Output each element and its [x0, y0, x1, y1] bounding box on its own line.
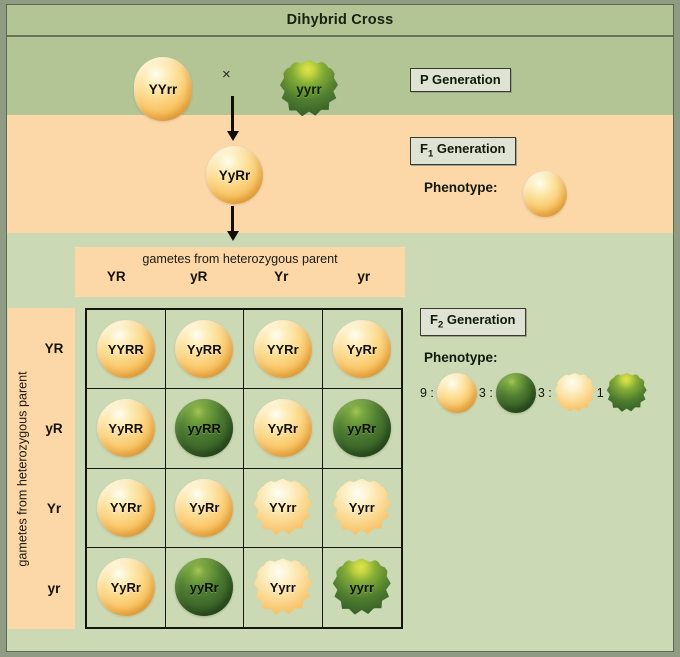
f1-offspring-genotype: YyRr	[206, 146, 263, 204]
punnett-cell-genotype: yyRR	[175, 399, 233, 457]
ratio-count: 9 :	[420, 386, 434, 400]
ratio-pea-wrap	[607, 373, 647, 413]
gamete-top-0: YR	[75, 269, 158, 284]
punnett-cell-genotype: YYRr	[254, 320, 312, 378]
pea-sprite-wrap: yyRr	[333, 399, 391, 457]
f1-generation-label: F1 Generation	[410, 137, 516, 165]
pea-sprite-wrap: YyRR	[175, 320, 233, 378]
punnett-cell: YyRR	[166, 310, 245, 389]
arrow-f1-to-f2	[231, 206, 234, 232]
pea-sprite-wrap: YyRr	[254, 399, 312, 457]
gamete-top-3: yr	[323, 269, 406, 284]
f1-generation-label-text: F1 Generation	[420, 141, 506, 156]
f1-offspring-pea: YyRr	[206, 146, 263, 204]
pea-sprite-wrap: YYRR	[97, 320, 155, 378]
pea-sprite-wrap: Yyrr	[333, 479, 391, 537]
gamete-left-0: YR	[33, 308, 75, 388]
p-generation-label-text: P Generation	[420, 72, 501, 87]
gamete-left-2: Yr	[33, 469, 75, 549]
p-parent-yellow-pea: YYrr	[134, 57, 192, 121]
ratio-pea-wrap	[555, 373, 595, 413]
dihybrid-cross-figure: Dihybrid Cross P Generation YYrr × yyrr …	[0, 0, 680, 657]
punnett-cell: YYrr	[244, 469, 323, 548]
punnett-cell: YyRr	[87, 548, 166, 627]
f2-generation-label: F2 Generation	[420, 308, 526, 336]
f2-generation-label-text: F2 Generation	[430, 312, 516, 327]
punnett-cell-genotype: YYrr	[254, 479, 312, 537]
punnett-cell-genotype: YyRr	[175, 479, 233, 537]
punnett-cell-genotype: Yyrr	[254, 558, 312, 616]
punnett-cell: YyRr	[244, 389, 323, 468]
punnett-cell: YyRr	[323, 310, 402, 389]
gametes-top-labels: YR yR Yr yr	[75, 269, 405, 284]
pea-sprite-wrap: YYRr	[254, 320, 312, 378]
pea-sprite-wrap: yyRR	[175, 399, 233, 457]
punnett-cell: yyRR	[166, 389, 245, 468]
pea-yellow-wrinkled-icon	[555, 373, 595, 413]
punnett-cell-genotype: YyRR	[175, 320, 233, 378]
punnett-cell: yyRr	[166, 548, 245, 627]
pea-sprite-wrap: YyRR	[97, 399, 155, 457]
arrow-p-to-f1	[231, 96, 234, 132]
page-title: Dihybrid Cross	[287, 12, 394, 28]
punnett-square: YYRRYyRRYYRrYyRrYyRRyyRRYyRryyRrYYRrYyRr…	[85, 308, 403, 629]
pea-sprite-wrap: yyrr	[333, 558, 391, 616]
f2-phenotype-ratio: 9 :3 :3 :1	[418, 372, 668, 414]
pea-sprite-wrap: Yyrr	[254, 558, 312, 616]
pea-sprite-wrap: YyRr	[97, 558, 155, 616]
p-generation-label: P Generation	[410, 68, 511, 92]
f1-phenotype-label: Phenotype:	[424, 180, 498, 195]
ratio-pea-wrap	[496, 373, 536, 413]
gamete-top-2: Yr	[240, 269, 323, 284]
pea-green-round-icon	[496, 373, 536, 413]
arrow-head-icon	[227, 231, 239, 241]
punnett-cell: YyRr	[166, 469, 245, 548]
punnett-cell: YYRR	[87, 310, 166, 389]
punnett-cell: yyrr	[323, 548, 402, 627]
gametes-top-header: gametes from heterozygous parent YR yR Y…	[75, 247, 405, 297]
punnett-cell-genotype: YYRR	[97, 320, 155, 378]
punnett-cell: Yyrr	[244, 548, 323, 627]
ratio-pea-wrap	[437, 373, 477, 413]
gametes-left-header: gametes from heterozygous parent YR yR Y…	[8, 308, 75, 629]
pea-sprite-wrap: yyRr	[175, 558, 233, 616]
gametes-left-labels: YR yR Yr yr	[33, 308, 75, 629]
ratio-count: 3 :	[479, 386, 493, 400]
punnett-cell-genotype: YYRr	[97, 479, 155, 537]
punnett-cell: Yyrr	[323, 469, 402, 548]
pea-sprite-wrap: YyRr	[333, 320, 391, 378]
punnett-cell: YYRr	[87, 469, 166, 548]
punnett-cell-genotype: yyrr	[333, 558, 391, 616]
punnett-cell: YyRR	[87, 389, 166, 468]
ratio-count: 1	[597, 386, 604, 400]
pea-sprite-wrap: YyRr	[175, 479, 233, 537]
gamete-left-1: yR	[33, 388, 75, 468]
punnett-cell-genotype: YyRr	[333, 320, 391, 378]
pea-sprite-wrap: YYRr	[97, 479, 155, 537]
p-generation-band	[7, 37, 673, 115]
gametes-left-caption: gametes from heterozygous parent	[16, 371, 30, 566]
pea-sprite-wrap: YYrr	[254, 479, 312, 537]
f1-phenotype-pea	[523, 171, 567, 217]
punnett-cell-genotype: Yyrr	[333, 479, 391, 537]
arrow-head-icon	[227, 131, 239, 141]
cross-symbol: ×	[222, 66, 231, 83]
ratio-count: 3 :	[538, 386, 552, 400]
punnett-cell-genotype: yyRr	[333, 399, 391, 457]
gametes-top-caption: gametes from heterozygous parent	[75, 251, 405, 267]
f2-phenotype-label: Phenotype:	[424, 350, 498, 365]
punnett-cell: YYRr	[244, 310, 323, 389]
punnett-cell-genotype: YyRr	[97, 558, 155, 616]
gamete-left-3: yr	[33, 549, 75, 629]
pea-green-wrinkled-icon	[607, 373, 647, 413]
punnett-cell-genotype: yyRr	[175, 558, 233, 616]
punnett-cell-genotype: YyRR	[97, 399, 155, 457]
f1-generation-band	[7, 115, 673, 233]
gamete-top-1: yR	[158, 269, 241, 284]
pea-yellow-round-icon	[437, 373, 477, 413]
figure-title-bar: Dihybrid Cross	[7, 5, 673, 37]
punnett-cell: yyRr	[323, 389, 402, 468]
punnett-cell-genotype: YyRr	[254, 399, 312, 457]
p-parent-yellow-genotype: YYrr	[134, 57, 192, 121]
